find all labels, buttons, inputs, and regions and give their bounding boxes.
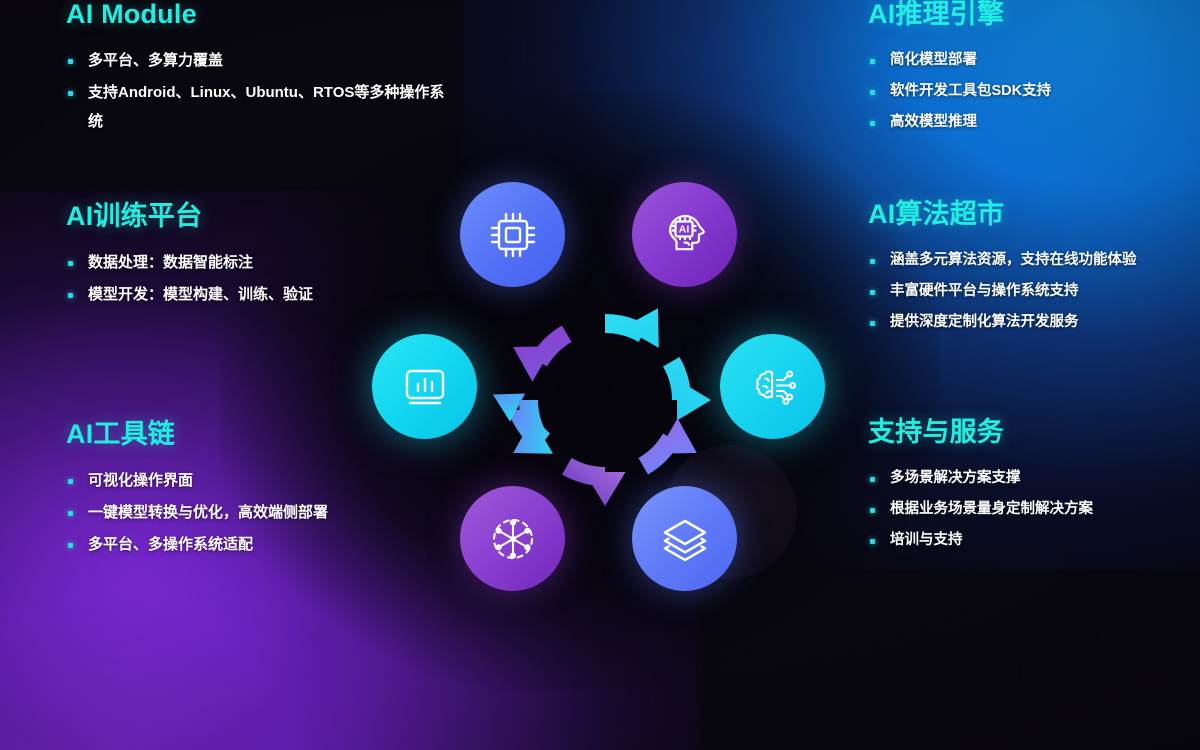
- list-item: 简化模型部署: [868, 46, 1178, 74]
- feature-heading-ai-module: AI Module: [66, 0, 446, 30]
- list-item: 多平台、多操作系统适配: [66, 530, 466, 559]
- chip-icon: [485, 207, 541, 263]
- bullet-text: 模型开发：模型构建、训练、验证: [88, 286, 313, 303]
- bullet-text: 丰富硬件平台与操作系统支持: [890, 283, 1079, 299]
- bullet-text: 多平台、多算力覆盖: [88, 52, 223, 69]
- bullet-text: 根据业务场景量身定制解决方案: [890, 501, 1093, 517]
- bullet-dot-icon: [68, 91, 73, 96]
- bullet-dot-icon: [68, 543, 73, 548]
- slide-canvas: AI Module 多平台、多算力覆盖 支持Android、Linux、Ubun…: [0, 0, 1200, 750]
- node-ai-head[interactable]: AI: [632, 182, 737, 287]
- bullet-text: 培训与支持: [890, 532, 963, 548]
- feature-heading-ai-training-platform: AI训练平台: [66, 202, 446, 232]
- brain-circuit-icon: [744, 358, 802, 416]
- feature-block-ai-algorithm-market: AI算法超市 涵盖多元算法资源，支持在线功能体验 丰富硬件平台与操作系统支持 提…: [868, 200, 1168, 339]
- bullet-dot-icon: [870, 508, 875, 513]
- feature-bullets-ai-training-platform: 数据处理：数据智能标注 模型开发：模型构建、训练、验证: [66, 248, 446, 310]
- bullet-dot-icon: [870, 290, 875, 295]
- list-item: 高效模型推理: [868, 108, 1178, 136]
- bullet-text: 数据处理：数据智能标注: [88, 254, 253, 271]
- feature-heading-ai-toolchain: AI工具链: [66, 420, 466, 450]
- list-item: 多场景解决方案支撑: [868, 464, 1168, 492]
- bullet-dot-icon: [68, 479, 73, 484]
- feature-block-ai-inference-engine: AI推理引擎 简化模型部署 软件开发工具包SDK支持 高效模型推理: [868, 0, 1178, 139]
- list-item: 根据业务场景量身定制解决方案: [868, 495, 1168, 523]
- feature-block-ai-toolchain: AI工具链 可视化操作界面 一键模型转换与优化，高效端侧部署 多平台、多操作系统…: [66, 420, 466, 562]
- cycle-arrow-ring: [485, 280, 725, 520]
- feature-heading-support-and-service: 支持与服务: [868, 418, 1168, 448]
- bullet-dot-icon: [68, 511, 73, 516]
- bullet-dot-icon: [870, 539, 875, 544]
- bullet-dot-icon: [68, 59, 73, 64]
- list-item: 可视化操作界面: [66, 466, 466, 495]
- bullet-text: 涵盖多元算法资源，支持在线功能体验: [890, 252, 1137, 268]
- list-item: 培训与支持: [868, 526, 1168, 554]
- ai-head-icon: AI: [656, 206, 714, 264]
- bullet-dot-icon: [870, 321, 875, 326]
- monitor-chart-icon: [396, 358, 454, 416]
- node-layers[interactable]: [632, 486, 737, 591]
- list-item: 模型开发：模型构建、训练、验证: [66, 280, 446, 309]
- bullet-text: 简化模型部署: [890, 52, 977, 68]
- bullet-dot-icon: [870, 90, 875, 95]
- node-network[interactable]: [460, 486, 565, 591]
- list-item: 数据处理：数据智能标注: [66, 248, 446, 277]
- list-item: 软件开发工具包SDK支持: [868, 77, 1178, 105]
- list-item: 涵盖多元算法资源，支持在线功能体验: [868, 246, 1168, 274]
- network-nodes-icon: [484, 510, 542, 568]
- feature-heading-ai-inference-engine: AI推理引擎: [868, 0, 1178, 30]
- bullet-text: 多平台、多操作系统适配: [88, 536, 253, 553]
- bullet-dot-icon: [68, 261, 73, 266]
- list-item: 支持Android、Linux、Ubuntu、RTOS等多种操作系统: [66, 78, 446, 137]
- feature-block-ai-module: AI Module 多平台、多算力覆盖 支持Android、Linux、Ubun…: [66, 0, 446, 139]
- feature-block-ai-training-platform: AI训练平台 数据处理：数据智能标注 模型开发：模型构建、训练、验证: [66, 202, 446, 312]
- feature-heading-ai-algorithm-market: AI算法超市: [868, 200, 1168, 230]
- bullet-text: 一键模型转换与优化，高效端侧部署: [88, 504, 328, 521]
- bullet-dot-icon: [68, 293, 73, 298]
- bullet-dot-icon: [870, 59, 875, 64]
- bullet-dot-icon: [870, 259, 875, 264]
- list-item: 丰富硬件平台与操作系统支持: [868, 277, 1168, 305]
- list-item: 提供深度定制化算法开发服务: [868, 308, 1168, 336]
- bullet-text: 提供深度定制化算法开发服务: [890, 314, 1079, 330]
- feature-bullets-ai-algorithm-market: 涵盖多元算法资源，支持在线功能体验 丰富硬件平台与操作系统支持 提供深度定制化算…: [868, 246, 1168, 337]
- feature-bullets-ai-toolchain: 可视化操作界面 一键模型转换与优化，高效端侧部署 多平台、多操作系统适配: [66, 466, 466, 560]
- feature-bullets-ai-module: 多平台、多算力覆盖 支持Android、Linux、Ubuntu、RTOS等多种…: [66, 46, 446, 137]
- node-brain[interactable]: [720, 334, 825, 439]
- feature-bullets-support-and-service: 多场景解决方案支撑 根据业务场景量身定制解决方案 培训与支持: [868, 464, 1168, 555]
- list-item: 一键模型转换与优化，高效端侧部署: [66, 498, 466, 527]
- feature-bullets-ai-inference-engine: 简化模型部署 软件开发工具包SDK支持 高效模型推理: [868, 46, 1178, 137]
- bullet-text: 可视化操作界面: [88, 472, 193, 489]
- bullet-text: 支持Android、Linux、Ubuntu、RTOS等多种操作系统: [88, 84, 444, 130]
- bullet-dot-icon: [870, 477, 875, 482]
- ai-head-label: AI: [678, 223, 689, 235]
- feature-block-support-and-service: 支持与服务 多场景解决方案支撑 根据业务场景量身定制解决方案 培训与支持: [868, 418, 1168, 557]
- bullet-text: 高效模型推理: [890, 114, 977, 130]
- bullet-text: 多场景解决方案支撑: [890, 470, 1021, 486]
- list-item: 多平台、多算力覆盖: [66, 46, 446, 75]
- bullet-text: 软件开发工具包SDK支持: [890, 83, 1051, 99]
- node-chip[interactable]: [460, 182, 565, 287]
- layers-stack-icon: [656, 510, 714, 568]
- bullet-dot-icon: [870, 121, 875, 126]
